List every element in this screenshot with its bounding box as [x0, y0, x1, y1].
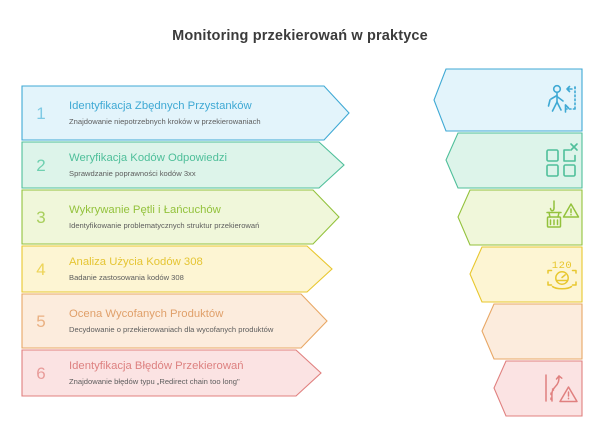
icon-row	[434, 132, 594, 189]
step-row: 5 Ocena Wycofanych Produktów Decydowanie…	[19, 293, 364, 349]
winding-road-warning-icon	[542, 370, 582, 408]
step-row: 4 Analiza Użycia Kodów 308 Badanie zasto…	[19, 245, 364, 293]
step-title: Weryfikacja Kodów Odpowiedzi	[69, 151, 227, 165]
step-number: 1	[19, 105, 63, 122]
step-title: Ocena Wycofanych Produktów	[69, 307, 273, 321]
step-description: Sprawdzanie poprawności kodów 3xx	[69, 168, 227, 179]
icon-row	[434, 360, 594, 417]
steps-panel: 1 Identyfikacja Zbędnych Przystanków Zna…	[19, 85, 364, 397]
icon-row	[434, 189, 594, 246]
step-number: 5	[19, 313, 63, 330]
svg-text:120: 120	[552, 260, 572, 272]
crane-hook-warning-icon	[542, 199, 582, 237]
step-title: Analiza Użycia Kodów 308	[69, 255, 203, 269]
step-number: 2	[19, 157, 63, 174]
step-number: 3	[19, 209, 63, 226]
step-description: Znajdowanie błędów typu „Redirect chain …	[69, 376, 244, 387]
step-row: 1 Identyfikacja Zbędnych Przystanków Zna…	[19, 85, 364, 141]
step-number: 6	[19, 365, 63, 382]
icon-row: 120	[434, 246, 594, 303]
icon-chevron-shape-5	[434, 303, 594, 360]
step-row: 6 Identyfikacja Błędów Przekierowań Znaj…	[19, 349, 364, 397]
icon-row	[434, 68, 594, 132]
step-title: Wykrywanie Pętli i Łańcuchów	[69, 203, 259, 217]
step-description: Identyfikowanie problematycznych struktu…	[69, 220, 259, 231]
step-description: Znajdowanie niepotrzebnych kroków w prze…	[69, 116, 261, 127]
speed-120-gauge-icon: 120	[542, 256, 582, 294]
step-description: Badanie zastosowania kodów 308	[69, 272, 203, 283]
step-number: 4	[19, 261, 63, 278]
walking-person-path-icon	[542, 81, 582, 119]
icon-row	[434, 303, 594, 360]
step-title: Identyfikacja Błędów Przekierowań	[69, 359, 244, 373]
grid-squares-close-icon	[542, 142, 582, 180]
step-title: Identyfikacja Zbędnych Przystanków	[69, 99, 261, 113]
icons-panel: 120	[434, 68, 594, 408]
page-title: Monitoring przekierowań w praktyce	[0, 28, 600, 44]
step-row: 3 Wykrywanie Pętli i Łańcuchów Identyfik…	[19, 189, 364, 245]
step-description: Decydowanie o przekierowaniach dla wycof…	[69, 324, 273, 335]
step-row: 2 Weryfikacja Kodów Odpowiedzi Sprawdzan…	[19, 141, 364, 189]
